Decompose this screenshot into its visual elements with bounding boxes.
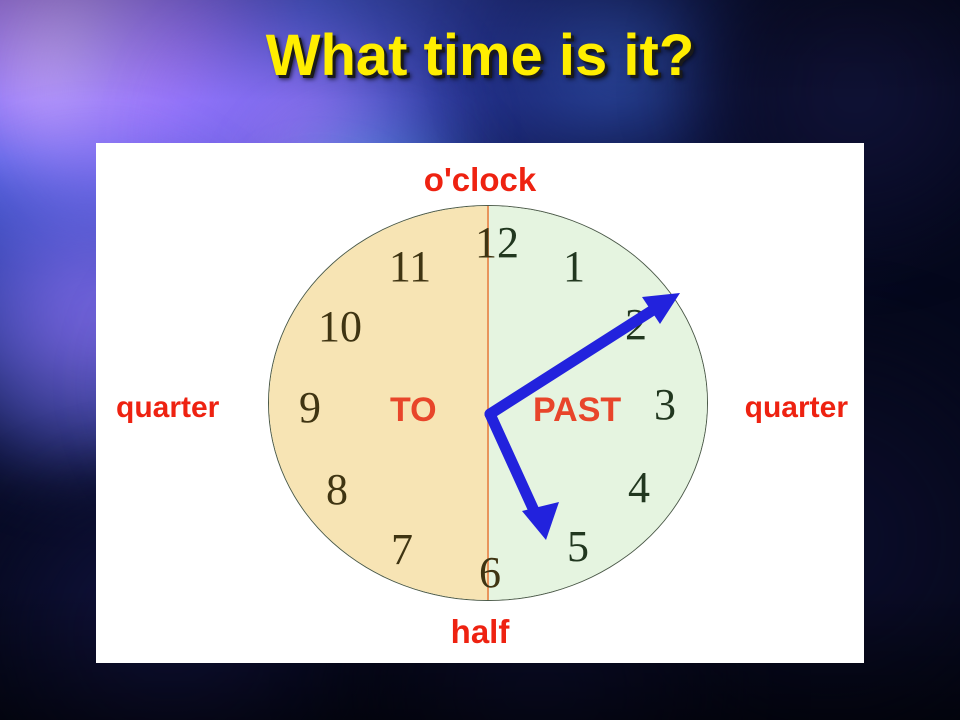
- clock-numeral-6: 6: [479, 551, 501, 595]
- clock-numeral-12: 12: [475, 221, 519, 265]
- label-past: PAST: [533, 391, 621, 430]
- clock-numeral-3: 3: [654, 383, 676, 427]
- clock-numeral-7: 7: [391, 528, 413, 572]
- label-quarter-past: quarter: [745, 391, 848, 425]
- slide-canvas: What time is it? 12 1 2 3 4 5 6 7 8 9 10…: [0, 0, 960, 720]
- slide-title: What time is it?: [0, 22, 960, 89]
- clock-numeral-9: 9: [299, 386, 321, 430]
- label-oclock: o'clock: [424, 161, 536, 199]
- clock-numeral-10: 10: [318, 305, 362, 349]
- clock-numeral-1: 1: [563, 245, 585, 289]
- clock-numeral-8: 8: [326, 468, 348, 512]
- clock-numeral-11: 11: [389, 245, 431, 289]
- clock-numeral-4: 4: [628, 466, 650, 510]
- clock-numeral-5: 5: [567, 525, 589, 569]
- clock-diagram: 12 1 2 3 4 5 6 7 8 9 10 11: [268, 205, 708, 601]
- clock-numeral-2: 2: [625, 303, 647, 347]
- label-to: TO: [390, 391, 437, 430]
- image-panel: 12 1 2 3 4 5 6 7 8 9 10 11: [96, 143, 864, 663]
- label-quarter-to: quarter: [116, 391, 219, 425]
- label-half: half: [451, 613, 510, 651]
